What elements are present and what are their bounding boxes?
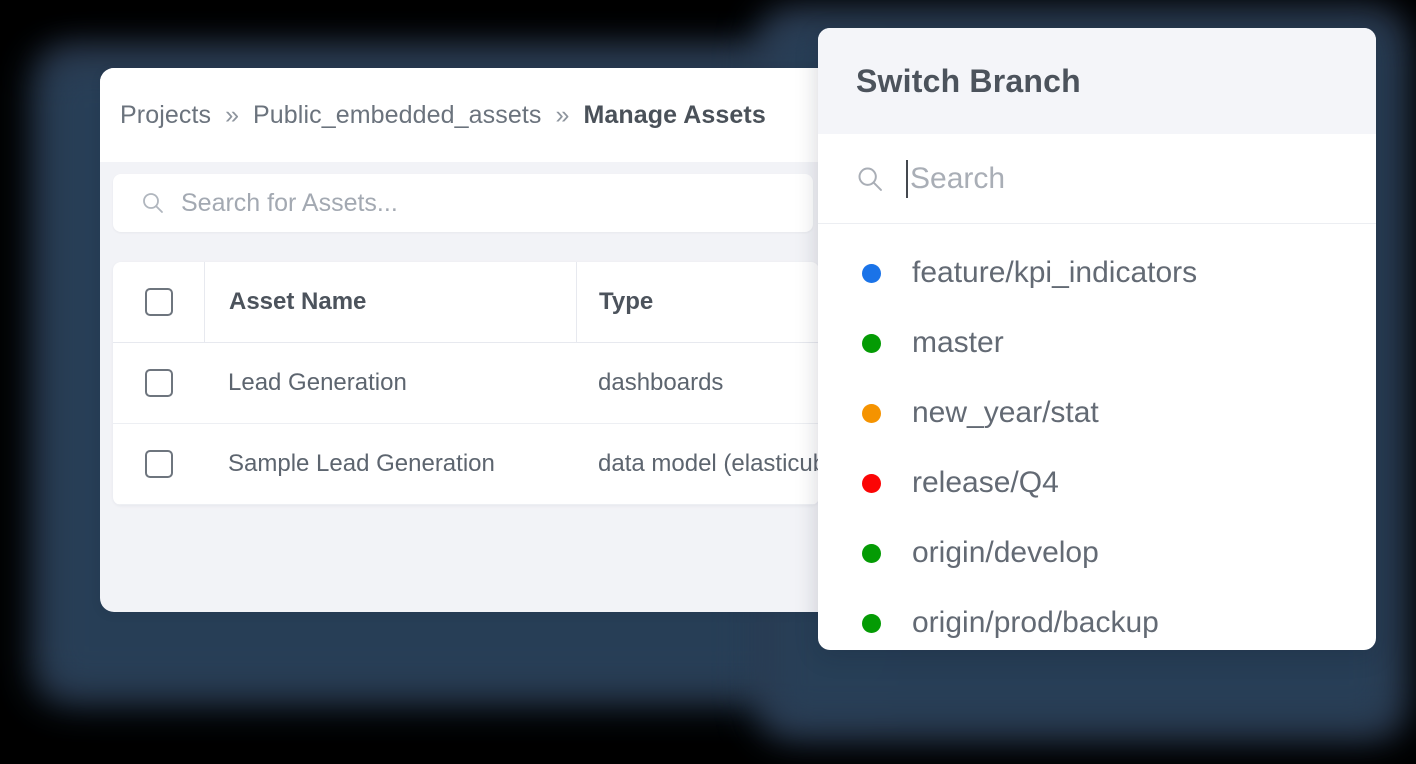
branch-status-dot (862, 334, 881, 353)
asset-type-text: dashboards (598, 369, 723, 397)
column-header-asset-name[interactable]: Asset Name (205, 262, 577, 342)
select-all-checkbox[interactable] (145, 288, 173, 316)
breadcrumb-item-manage-assets: Manage Assets (583, 101, 765, 130)
column-label-asset-name: Asset Name (229, 288, 366, 316)
breadcrumb-separator-icon-2: » (556, 103, 570, 128)
switch-branch-header: Switch Branch (818, 28, 1376, 134)
asset-search-input[interactable]: Search for Assets... (113, 174, 813, 232)
branch-status-dot (862, 404, 881, 423)
text-cursor (906, 160, 908, 198)
breadcrumb-item-public-embedded-assets[interactable]: Public_embedded_assets (253, 101, 542, 130)
branch-status-dot (862, 544, 881, 563)
branch-item-master[interactable]: master (818, 308, 1376, 378)
branch-label: release/Q4 (912, 466, 1059, 500)
panel-title: Switch Branch (856, 63, 1081, 100)
select-all-cell[interactable] (113, 262, 205, 342)
row-checkbox[interactable] (145, 450, 173, 478)
row-checkbox[interactable] (145, 369, 173, 397)
cell-type: dashboards (576, 343, 819, 423)
breadcrumb-item-projects[interactable]: Projects (120, 101, 211, 130)
asset-type-text: data model (elasticube) (598, 450, 819, 478)
cell-asset-name: Sample Lead Generation (204, 424, 576, 504)
branch-item-origin-prod-backup[interactable]: origin/prod/backup (818, 588, 1376, 650)
row-select-cell[interactable] (113, 424, 204, 504)
manage-assets-window: Projects » Public_embedded_assets » Mana… (100, 68, 836, 612)
search-icon (856, 165, 884, 193)
branch-search-placeholder: Search (910, 162, 1005, 196)
breadcrumb: Projects » Public_embedded_assets » Mana… (100, 68, 836, 162)
branch-status-dot (862, 474, 881, 493)
assets-table: Asset Name Type Lead Generation dashboar… (113, 262, 819, 505)
branch-label: feature/kpi_indicators (912, 256, 1197, 290)
asset-name-text: Lead Generation (228, 369, 407, 397)
table-row[interactable]: Lead Generation dashboards (113, 343, 819, 424)
table-row[interactable]: Sample Lead Generation data model (elast… (113, 424, 819, 505)
asset-name-text: Sample Lead Generation (228, 450, 495, 478)
branch-label: new_year/stat (912, 396, 1099, 430)
branch-list: feature/kpi_indicators master new_year/s… (818, 224, 1376, 650)
branch-item-origin-develop[interactable]: origin/develop (818, 518, 1376, 588)
branch-label: origin/develop (912, 536, 1099, 570)
branch-label: origin/prod/backup (912, 606, 1159, 640)
branch-item-feature-kpi-indicators[interactable]: feature/kpi_indicators (818, 238, 1376, 308)
search-icon (141, 191, 165, 215)
screenshot-stage: Projects » Public_embedded_assets » Mana… (0, 0, 1416, 764)
asset-search-placeholder: Search for Assets... (181, 189, 398, 218)
row-select-cell[interactable] (113, 343, 204, 423)
cell-type: data model (elasticube) (576, 424, 819, 504)
branch-status-dot (862, 264, 881, 283)
asset-search-row: Search for Assets... (100, 162, 836, 246)
branch-label: master (912, 326, 1004, 360)
branch-status-dot (862, 614, 881, 633)
cell-asset-name: Lead Generation (204, 343, 576, 423)
branch-item-new-year-stat[interactable]: new_year/stat (818, 378, 1376, 448)
table-header-row: Asset Name Type (113, 262, 819, 343)
branch-item-release-q4[interactable]: release/Q4 (818, 448, 1376, 518)
breadcrumb-separator-icon: » (225, 103, 239, 128)
column-header-type[interactable]: Type (577, 262, 819, 342)
column-label-type: Type (599, 288, 653, 316)
switch-branch-panel: Switch Branch Search feature/kpi_indicat… (818, 28, 1376, 650)
branch-search-input[interactable]: Search (818, 134, 1376, 224)
